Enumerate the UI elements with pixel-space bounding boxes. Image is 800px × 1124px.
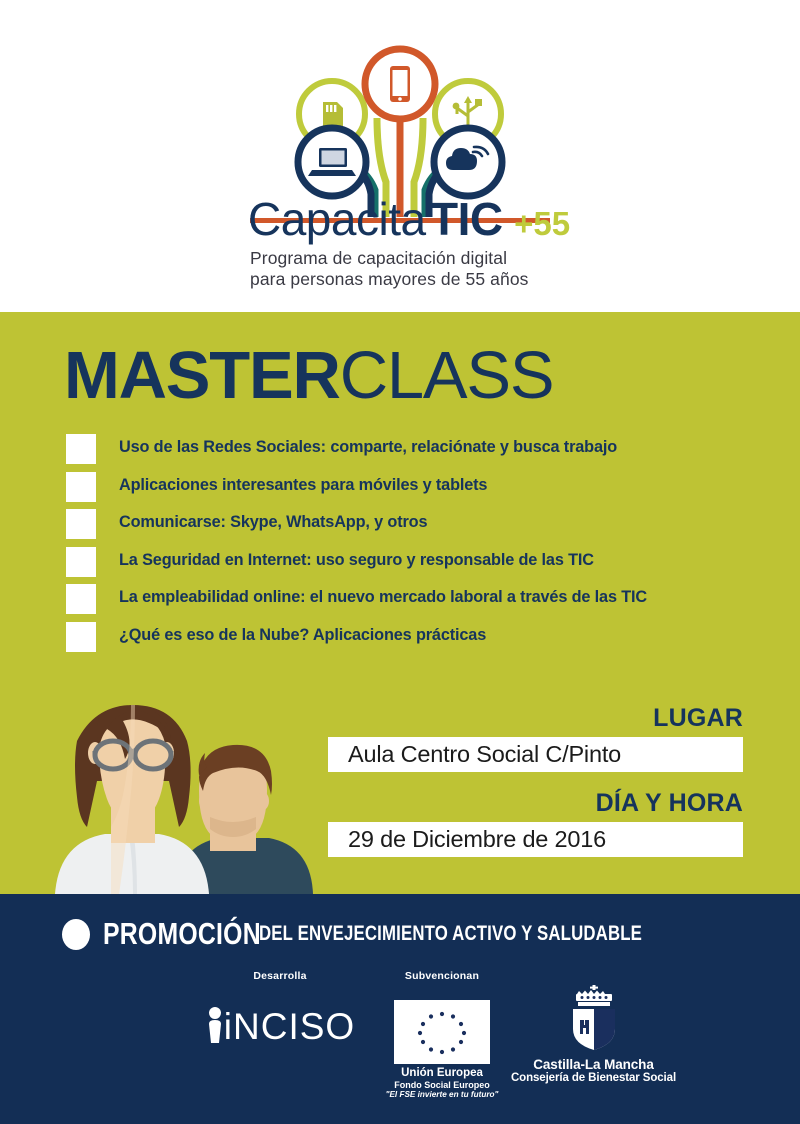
field-value: 29 de Diciembre de 2016 <box>348 826 606 853</box>
developer-heading: Desarrolla <box>180 970 380 982</box>
title-class: CLASS <box>340 338 554 413</box>
brand-wordmark: Capacita TIC +55 <box>248 192 570 246</box>
eu-line-2: Fondo Social Europeo <box>352 1080 532 1090</box>
list-item: Aplicaciones interesantes para móviles y… <box>66 472 766 510</box>
funders-heading: Subvencionan <box>352 970 532 982</box>
white-oval-icon <box>62 919 90 950</box>
inciso-wordmark: iNCISO <box>224 1010 355 1044</box>
woman-figure <box>55 705 209 894</box>
castilla-la-mancha-coat-of-arms-icon <box>563 984 625 1050</box>
eu-flag-icon <box>394 1000 490 1064</box>
field-label: LUGAR <box>328 704 743 733</box>
list-item-label: La Seguridad en Internet: uso seguro y r… <box>119 551 594 570</box>
promotion-subtitle: DEL ENVEJECIMIENTO ACTIVO Y SALUDABLE <box>259 922 642 946</box>
list-item-label: La empleabilidad online: el nuevo mercad… <box>119 588 647 607</box>
list-item: La Seguridad en Internet: uso seguro y r… <box>66 547 766 585</box>
brand-tagline: Programa de capacitación digital para pe… <box>0 248 800 290</box>
field-value-box[interactable]: 29 de Diciembre de 2016 <box>328 822 743 857</box>
list-item-label: Aplicaciones interesantes para móviles y… <box>119 476 487 495</box>
list-item-label: Uso de las Redes Sociales: comparte, rel… <box>119 438 617 457</box>
inciso-logo: iNCISO <box>180 1004 380 1044</box>
two-people-illustration <box>55 689 355 894</box>
list-item: La empleabilidad online: el nuevo mercad… <box>66 584 766 622</box>
promotion-banner: PROMOCIÓN DEL ENVEJECIMIENTO ACTIVO Y SA… <box>0 916 800 952</box>
clm-line-2: Consejería de Bienestar Social <box>506 1072 681 1084</box>
page-title: MASTERCLASS <box>64 339 553 413</box>
footer-navy-panel: PROMOCIÓN DEL ENVEJECIMIENTO ACTIVO Y SA… <box>0 894 800 1124</box>
inciso-person-icon <box>205 1004 225 1044</box>
field-lugar: LUGAR Aula Centro Social C/Pinto <box>328 704 743 772</box>
cloud-wifi-icon <box>434 128 502 196</box>
capacitatic-logo: Capacita TIC +55 Programa de capacitació… <box>0 0 800 312</box>
checkbox-icon <box>66 622 96 652</box>
developer-block: Desarrolla iNCISO <box>180 970 380 1044</box>
promotion-title: PROMOCIÓN <box>103 916 261 952</box>
checkbox-icon <box>66 584 96 614</box>
spacer <box>328 772 743 789</box>
field-label: DÍA Y HORA <box>328 789 743 818</box>
brand-name-light: Capacita <box>248 193 426 245</box>
list-item: Uso de las Redes Sociales: comparte, rel… <box>66 434 766 472</box>
checkbox-icon <box>66 472 96 502</box>
eu-line-3: "El FSE invierte en tu futuro" <box>352 1090 532 1099</box>
tagline-line-2: para personas mayores de 55 años <box>0 269 800 290</box>
list-item-label: ¿Qué es eso de la Nube? Aplicaciones prá… <box>119 626 486 645</box>
course-topic-list: Uso de las Redes Sociales: comparte, rel… <box>66 434 766 659</box>
brand-name-bold: TIC <box>430 193 503 245</box>
event-details: LUGAR Aula Centro Social C/Pinto DÍA Y H… <box>328 704 743 857</box>
smartphone-icon <box>365 49 435 119</box>
field-value: Aula Centro Social C/Pinto <box>348 741 621 768</box>
laptop-icon <box>298 128 366 196</box>
eu-line-1: Unión Europea <box>352 1067 532 1079</box>
sponsor-logos: Desarrolla iNCISO Subvencionan <box>0 970 800 1120</box>
field-dia-y-hora: DÍA Y HORA 29 de Diciembre de 2016 <box>328 789 743 857</box>
checkbox-icon <box>66 434 96 464</box>
field-value-box[interactable]: Aula Centro Social C/Pinto <box>328 737 743 772</box>
list-item: Comunicarse: Skype, WhatsApp, y otros <box>66 509 766 547</box>
checkbox-icon <box>66 547 96 577</box>
checkbox-icon <box>66 509 96 539</box>
brand-plus55: +55 <box>514 205 570 242</box>
eu-funder-block: Subvencionan <box>352 970 532 1099</box>
main-green-panel: MASTERCLASS Uso de las Redes Sociales: c… <box>0 312 800 894</box>
list-item-label: Comunicarse: Skype, WhatsApp, y otros <box>119 513 427 532</box>
title-master: MASTER <box>64 338 340 413</box>
list-item: ¿Qué es eso de la Nube? Aplicaciones prá… <box>66 622 766 660</box>
poster-header: Capacita TIC +55 Programa de capacitació… <box>0 0 800 312</box>
clm-funder-block: Castilla-La Mancha Consejería de Bienest… <box>506 970 681 1084</box>
tagline-line-1: Programa de capacitación digital <box>0 248 800 269</box>
poster: Capacita TIC +55 Programa de capacitació… <box>0 0 800 1124</box>
clm-line-1: Castilla-La Mancha <box>506 1057 681 1072</box>
